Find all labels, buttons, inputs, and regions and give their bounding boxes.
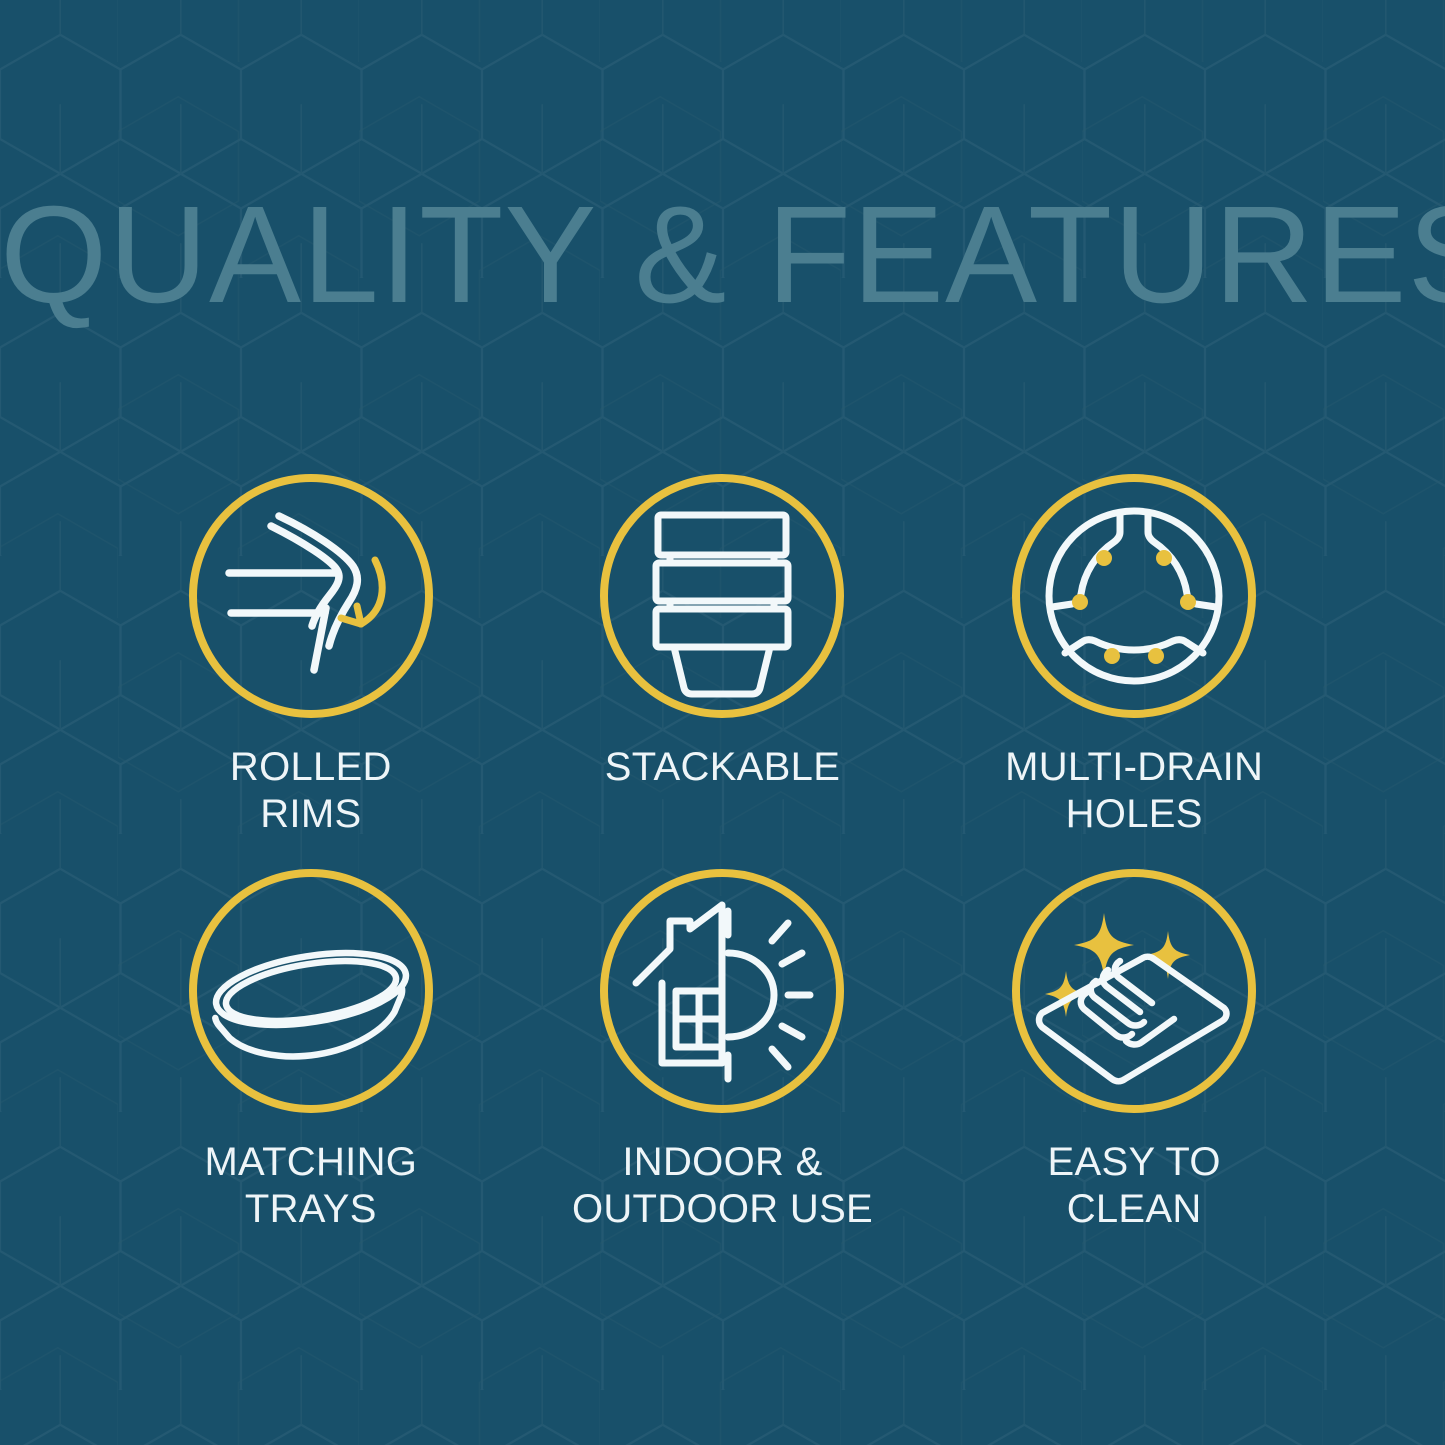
quality-features-infographic: QUALITY & FEATURES bbox=[0, 0, 1445, 1445]
feature-multi-drain-holes: MULTI-DRAIN HOLES bbox=[928, 470, 1340, 865]
feature-matching-trays: MATCHING TRAYS bbox=[105, 865, 517, 1260]
feature-label: MATCHING TRAYS bbox=[204, 1139, 417, 1233]
feature-label: INDOOR & OUTDOOR USE bbox=[572, 1139, 873, 1233]
feature-indoor-outdoor-use: INDOOR & OUTDOOR USE bbox=[517, 865, 929, 1260]
feature-rolled-rims: ROLLED RIMS bbox=[105, 470, 517, 865]
stacked-pots-icon bbox=[596, 470, 848, 722]
house-sun-icon bbox=[596, 865, 848, 1117]
feature-label: MULTI-DRAIN HOLES bbox=[1005, 744, 1263, 838]
features-grid: ROLLED RIMS STACKABLE bbox=[105, 470, 1340, 1260]
feature-label: ROLLED RIMS bbox=[230, 744, 392, 838]
feature-easy-to-clean: EASY TO CLEAN bbox=[928, 865, 1340, 1260]
rolled-rim-icon bbox=[185, 470, 437, 722]
drain-holes-icon bbox=[1008, 470, 1260, 722]
hand-wiping-sparkles-icon bbox=[1008, 865, 1260, 1117]
feature-label: STACKABLE bbox=[605, 744, 840, 791]
feature-label: EASY TO CLEAN bbox=[1048, 1139, 1221, 1233]
page-title: QUALITY & FEATURES bbox=[0, 186, 1445, 324]
oval-tray-icon bbox=[185, 865, 437, 1117]
feature-stackable: STACKABLE bbox=[517, 470, 929, 865]
